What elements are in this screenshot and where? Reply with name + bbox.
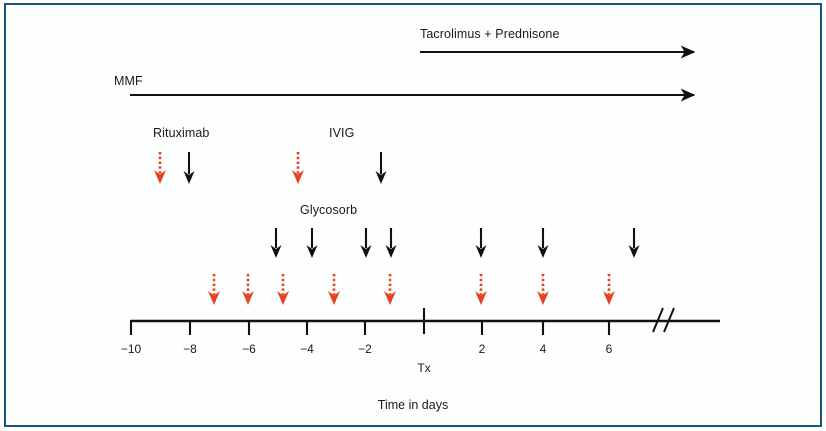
duration-bars-group [130, 52, 694, 95]
axis-tick-label--2: −2 [358, 342, 372, 356]
black-arrow-glycosorb-0 [271, 228, 282, 258]
red-arrow-lower-4 [384, 274, 396, 305]
red-arrow-upper-1 [292, 152, 304, 184]
duration-label-0: Tacrolimus + Prednisone [420, 27, 560, 41]
red-arrow-lower-0 [208, 274, 220, 305]
arrow-head [537, 291, 549, 305]
red-arrow-lower-6 [537, 274, 549, 305]
timeline-graphic [0, 0, 826, 431]
red-arrow-lower-2 [277, 274, 289, 305]
axis-tick-label--6: −6 [242, 342, 256, 356]
arrow-head [208, 291, 220, 305]
axis-tick-label--8: −8 [183, 342, 197, 356]
axis-group [130, 308, 720, 335]
axis-tick-label-2: 2 [479, 342, 486, 356]
black-arrow-glycosorb-1 [307, 228, 318, 258]
figure-root: Tacrolimus + PrednisoneMMFRituximabIVIGG… [0, 0, 826, 431]
arrow-head [277, 291, 289, 305]
axis-origin-label-tx: Tx [417, 361, 430, 375]
arrow-head [475, 291, 487, 305]
axis-caption: Time in days [378, 398, 448, 412]
black-arrow-upper-1 [376, 152, 387, 184]
black-arrow-glycosorb-2 [361, 228, 372, 258]
axis-tick-label--4: −4 [300, 342, 314, 356]
event-arrows-group [154, 152, 640, 305]
black-arrow-upper-0 [184, 152, 195, 184]
axis-tick-label-4: 4 [540, 342, 547, 356]
event-label-rituximab: Rituximab [153, 126, 209, 140]
red-arrow-lower-3 [328, 274, 340, 305]
arrow-head [242, 291, 254, 305]
arrow-head [328, 291, 340, 305]
red-arrow-upper-0 [154, 152, 166, 184]
event-label-glycosorb: Glycosorb [300, 203, 357, 217]
axis-tick-label-6: 6 [606, 342, 613, 356]
event-label-ivig: IVIG [329, 126, 354, 140]
red-arrow-lower-1 [242, 274, 254, 305]
black-arrow-glycosorb-3 [386, 228, 397, 258]
black-arrow-glycosorb-5 [538, 228, 549, 258]
black-arrow-glycosorb-4 [476, 228, 487, 258]
red-arrow-lower-7 [603, 274, 615, 305]
axis-tick-label--10: −10 [121, 342, 141, 356]
arrow-head [384, 291, 396, 305]
black-arrow-glycosorb-6 [629, 228, 640, 258]
duration-label-1: MMF [114, 74, 143, 88]
arrow-head [603, 291, 615, 305]
red-arrow-lower-5 [475, 274, 487, 305]
